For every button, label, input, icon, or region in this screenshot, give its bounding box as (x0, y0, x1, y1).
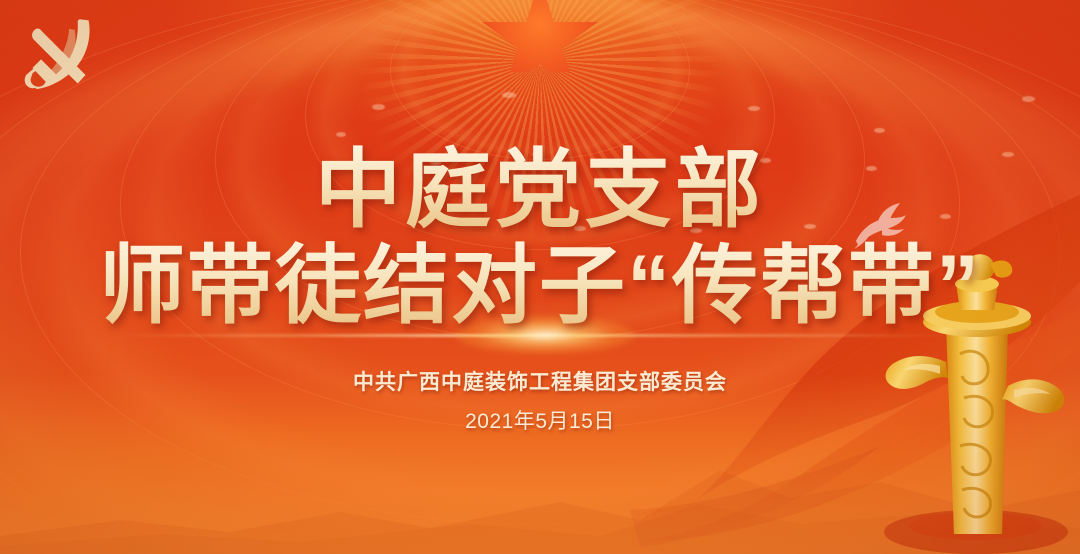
ceiling-light-dot (748, 106, 760, 111)
five-pointed-star-icon (480, 0, 600, 72)
hammer-and-sickle-icon (20, 17, 98, 97)
ceiling-light-dot (1022, 96, 1035, 102)
poster-organization: 中共广西中庭装饰工程集团支部委员会 (0, 366, 1080, 396)
poster-title-line-2: 师带徒结对子“传帮带” (0, 240, 1080, 332)
ceiling-arc-1 (390, 0, 690, 160)
poster-title-line-1: 中庭党支部 (0, 144, 1080, 236)
ceiling-light-dot (336, 132, 346, 137)
ceiling-light-dot (372, 104, 385, 110)
poster-date: 2021年5月15日 (0, 405, 1080, 435)
poster-canvas: 中庭党支部 师带徒结对子“传帮带” 中共广西中庭装饰工程集团支部委员会 2021… (0, 0, 1080, 554)
ceiling-light-dot (874, 128, 885, 133)
ceiling-light-dot (502, 92, 516, 98)
